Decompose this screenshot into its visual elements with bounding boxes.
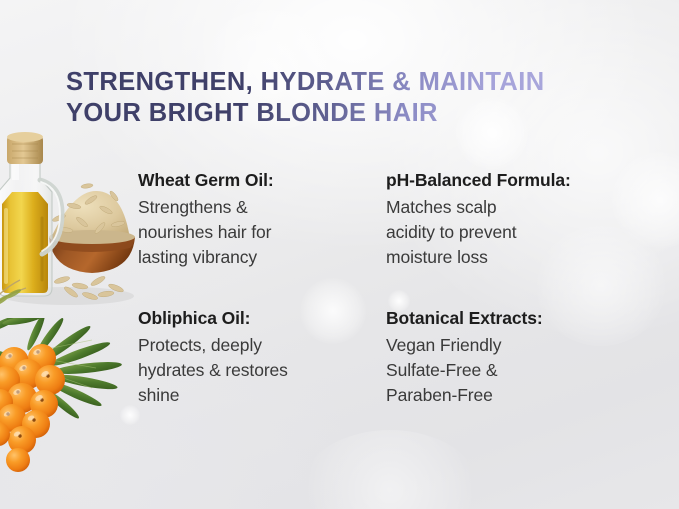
feature-body-line: shine [138, 383, 386, 408]
feature-title: Wheat Germ Oil: [138, 168, 386, 192]
bokeh-light-8 [300, 430, 480, 509]
feature-body-line: Vegan Friendly [386, 333, 668, 358]
wheat-germ-oil-photo [0, 118, 136, 306]
page-title-line-2: YOUR BRIGHT BLONDE HAIR [66, 98, 656, 129]
feature-body-line: Paraben-Free [386, 383, 668, 408]
feature-body: Matches scalp acidity to prevent moistur… [386, 195, 668, 270]
page-title: STRENGTHEN, HYDRATE & MAINTAIN YOUR BRIG… [66, 67, 656, 129]
feature-body-line: Protects, deeply [138, 333, 386, 358]
feature-row-top: Wheat Germ Oil: Strengthens & nourishes … [138, 168, 668, 270]
feature-body-line: lasting vibrancy [138, 245, 386, 270]
bokeh-light-5 [120, 405, 140, 425]
feature-body-line: Matches scalp [386, 195, 668, 220]
feature-row-bottom: Obliphica Oil: Protects, deeply hydrates… [138, 306, 668, 408]
feature-body-line: Strengthens & [138, 195, 386, 220]
feature-title: pH-Balanced Formula: [386, 168, 668, 192]
feature-wheat-germ-oil: Wheat Germ Oil: Strengthens & nourishes … [138, 168, 386, 270]
feature-body-line: nourishes hair for [138, 220, 386, 245]
feature-obliphica-oil: Obliphica Oil: Protects, deeply hydrates… [138, 306, 386, 408]
feature-body: Strengthens & nourishes hair for lasting… [138, 195, 386, 270]
page-title-line-1: STRENGTHEN, HYDRATE & MAINTAIN [66, 68, 545, 96]
feature-body-line: acidity to prevent [386, 220, 668, 245]
feature-title: Botanical Extracts: [386, 306, 668, 330]
feature-ph-balanced-formula: pH-Balanced Formula: Matches scalp acidi… [386, 168, 668, 270]
feature-title: Obliphica Oil: [138, 306, 386, 330]
feature-botanical-extracts: Botanical Extracts: Vegan Friendly Sulfa… [386, 306, 668, 408]
sea-buckthorn-photo [0, 318, 132, 478]
feature-body-line: Sulfate-Free & [386, 358, 668, 383]
feature-body: Vegan Friendly Sulfate-Free & Paraben-Fr… [386, 333, 668, 408]
feature-body-line: moisture loss [386, 245, 668, 270]
product-benefits-poster: STRENGTHEN, HYDRATE & MAINTAIN YOUR BRIG… [0, 0, 679, 509]
feature-body-line: hydrates & restores [138, 358, 386, 383]
feature-body: Protects, deeply hydrates & restores shi… [138, 333, 386, 408]
feature-grid: Wheat Germ Oil: Strengthens & nourishes … [138, 168, 668, 408]
